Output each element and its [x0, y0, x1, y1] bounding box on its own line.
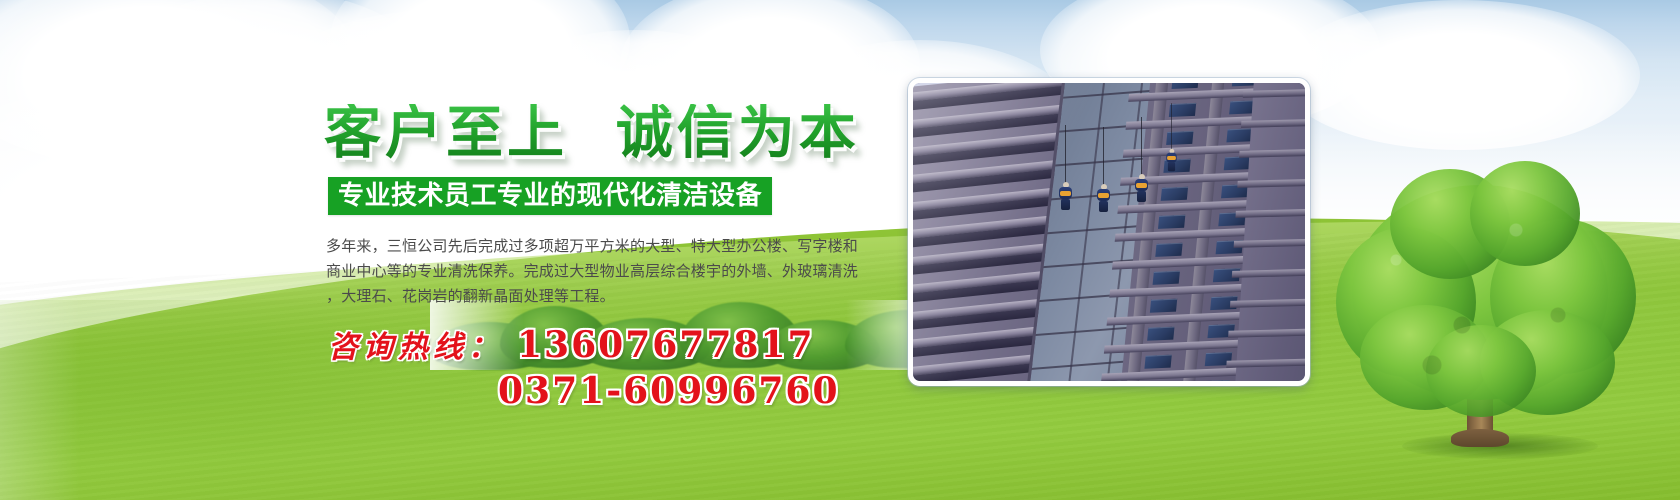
description-line: ，大理石、花岗岩的翻新晶面处理等工程。	[326, 284, 886, 309]
banner-description: 多年来，三恒公司先后完成过多项超万平方米的大型、特大型办公楼、写字楼和 商业中心…	[326, 234, 886, 309]
description-line: 多年来，三恒公司先后完成过多项超万平方米的大型、特大型办公楼、写字楼和	[326, 234, 886, 259]
banner-subtitle-band: 专业技术员工专业的现代化清洁设备	[328, 177, 772, 215]
banner-subtitle-text: 专业技术员工专业的现代化清洁设备	[338, 183, 762, 209]
banner-headline: 客户至上 诚信为本	[324, 104, 884, 161]
rope-access-worker-icon	[1097, 185, 1110, 211]
promo-banner: 客户至上 诚信为本 专业技术员工专业的现代化清洁设备 多年来，三恒公司先后完成过…	[0, 0, 1680, 500]
description-line: 商业中心等的专业清洗保养。完成过大型物业高层综合楼宇的外墙、外玻璃清洗	[326, 259, 886, 284]
hotline-landline-number[interactable]: 0371-60996760	[498, 370, 840, 412]
tree-canopy	[1426, 325, 1536, 417]
photo-inner	[913, 83, 1305, 381]
high-rise-window-cleaning-photo	[908, 78, 1310, 386]
rope-access-worker-icon	[1059, 183, 1072, 209]
hotline-mobile-number[interactable]: 13607677817	[517, 324, 815, 366]
rope-access-worker-icon	[1135, 175, 1148, 201]
hotline-row-secondary: 0371-60996760	[498, 370, 840, 412]
rope-access-worker-icon	[1166, 150, 1176, 171]
tree-canopy	[1470, 161, 1580, 266]
hotline-row-primary: 咨询热线： 13607677817	[328, 322, 815, 366]
foreground-tree	[1330, 175, 1630, 460]
hotline-label: 咨询热线：	[328, 322, 503, 366]
